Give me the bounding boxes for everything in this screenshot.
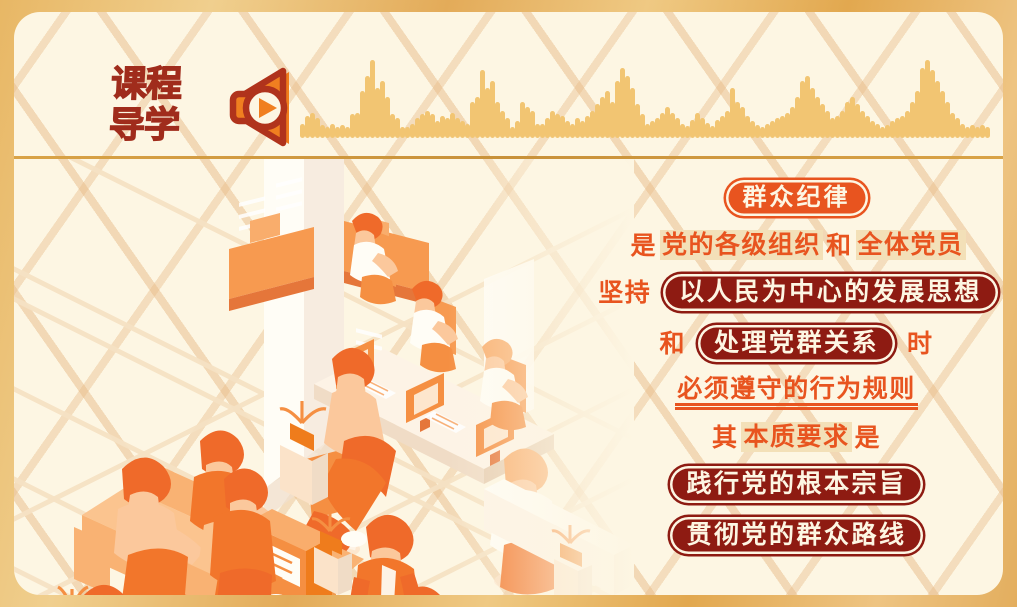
poster-card: 课程 导学 <box>14 12 1003 595</box>
badge-mass-line: 贯彻党的群众路线 <box>670 517 922 554</box>
text-line-8: 贯彻党的群众路线 <box>670 517 922 554</box>
badge-fundamental-purpose: 践行党的根本宗旨 <box>670 466 922 503</box>
text-line-3: 坚持 以人民为中心的发展思想 <box>595 274 998 311</box>
content-text-panel: 群众纪律 是党的各级组织和全体党员 坚持 以人民为中心的发展思想 和 处理党群关… <box>604 180 989 590</box>
poster-frame: 课程 导学 <box>0 0 1017 607</box>
speaker-play-icon[interactable] <box>217 64 309 152</box>
underlined-rules-text: 必须遵守的行为规则 <box>677 376 916 410</box>
text-line-1: 群众纪律 <box>726 180 868 216</box>
line4-suffix: 时 <box>904 329 937 358</box>
badge-people-centered-development: 以人民为中心的发展思想 <box>663 274 998 311</box>
badge-mass-discipline: 群众纪律 <box>726 180 868 216</box>
line6-run-2: 是 <box>852 423 885 452</box>
line2-run-1-highlight: 党的各级组织 <box>660 230 823 260</box>
text-line-4: 和 处理党群关系 时 <box>656 325 936 362</box>
line6-run-0: 其 <box>709 423 742 452</box>
text-line-6: 其本质要求是 <box>709 422 884 452</box>
line2-run-3-highlight: 全体党员 <box>856 230 966 260</box>
line4-prefix: 和 <box>656 329 689 358</box>
text-line-7: 践行党的根本宗旨 <box>670 466 922 503</box>
course-guide-logo: 课程 导学 <box>108 64 216 148</box>
isometric-office-illustration <box>14 159 634 595</box>
line2-run-2: 和 <box>823 231 856 260</box>
line2-run-0: 是 <box>627 231 660 260</box>
line6-run-1-highlight: 本质要求 <box>741 422 851 452</box>
line3-prefix: 坚持 <box>595 278 654 307</box>
audio-waveform[interactable] <box>300 50 946 138</box>
text-line-2: 是党的各级组织和全体党员 <box>627 230 965 260</box>
header-divider-rule <box>14 156 1003 159</box>
header-bar: 课程 导学 <box>14 12 1003 157</box>
text-line-5: 必须遵守的行为规则 <box>677 376 916 410</box>
badge-party-mass-relations: 处理党群关系 <box>698 325 895 362</box>
waveform-bar <box>985 127 990 138</box>
